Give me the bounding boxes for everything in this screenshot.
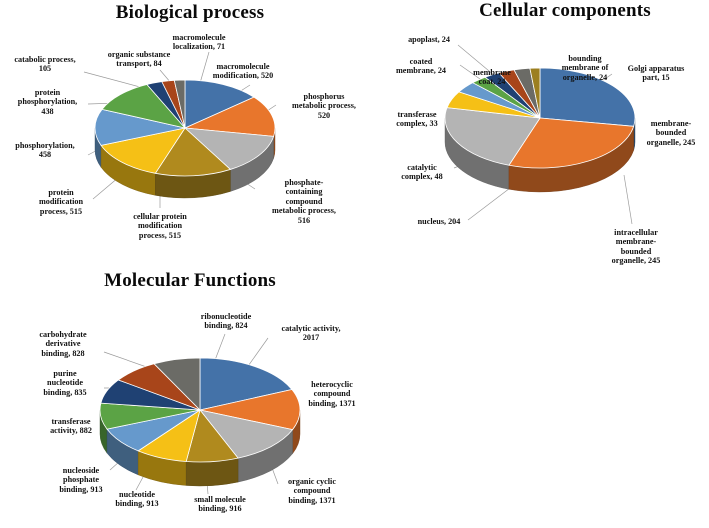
slice-label-transferase-activity: transferase activity, 882 <box>34 417 108 436</box>
slice-label-heterocyclic-compound-binding: heterocyclic compound binding, 1371 <box>292 380 372 408</box>
slice-label-carbohydrate-derivative-binding: carbohydrate derivative binding, 828 <box>24 330 102 358</box>
slice-label-small-molecule-binding: small molecule binding, 916 <box>178 495 262 514</box>
slice-label-purine-nucleotide-binding: purine nucleotide binding, 835 <box>28 369 102 397</box>
labels-molecular-functions: ribonucleotide binding, 824catalytic act… <box>0 0 709 528</box>
slice-label-ribonucleotide-binding: ribonucleotide binding, 824 <box>182 312 270 331</box>
slice-label-nucleotide-binding: nucleotide binding, 913 <box>102 490 172 509</box>
slice-label-catalytic-activity: catalytic activity, 2017 <box>266 324 356 343</box>
slice-label-organic-cyclic-compound-binding: organic cyclic compound binding, 1371 <box>272 477 352 505</box>
